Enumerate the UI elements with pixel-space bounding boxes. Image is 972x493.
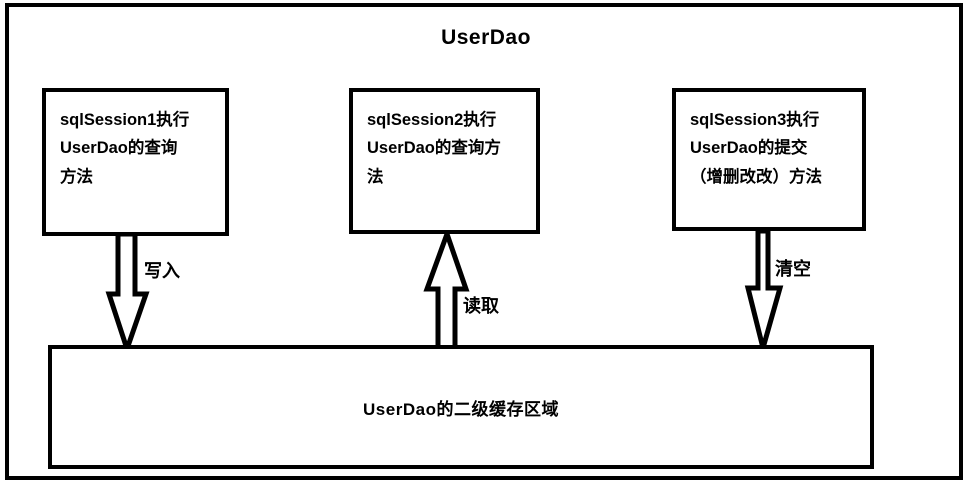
page-title: UserDao [0,26,972,50]
session-box-3-line-3: （增删改改）方法 [690,163,850,191]
arrow-label-read: 读取 [463,292,499,318]
session-box-2-line-1: sqlSession2执行 [367,106,524,134]
arrow-down-clear-icon [742,229,790,351]
session-box-1-line-2: UserDao的查询 [60,134,213,162]
session-box-1: sqlSession1执行 UserDao的查询 方法 [42,88,229,236]
session-box-3-line-1: sqlSession3执行 [690,106,850,134]
session-box-2: sqlSession2执行 UserDao的查询方 法 [349,88,540,234]
session-box-1-line-1: sqlSession1执行 [60,106,213,134]
session-box-3-line-2: UserDao的提交 [690,134,850,162]
arrow-label-write: 写入 [144,257,180,283]
arrow-up-read-icon [423,231,471,351]
cache-box-label: UserDao的二级缓存区域 [363,395,559,420]
session-box-3: sqlSession3执行 UserDao的提交 （增删改改）方法 [672,88,866,231]
arrow-label-clear: 清空 [775,255,811,281]
diagram-canvas: UserDao sqlSession1执行 UserDao的查询 方法 sqlS… [0,0,972,493]
session-box-1-line-3: 方法 [60,163,213,191]
session-box-2-line-2: UserDao的查询方 [367,134,524,162]
arrow-down-write-icon [104,232,152,352]
session-box-2-line-3: 法 [367,163,524,191]
cache-box: UserDao的二级缓存区域 [48,345,874,469]
